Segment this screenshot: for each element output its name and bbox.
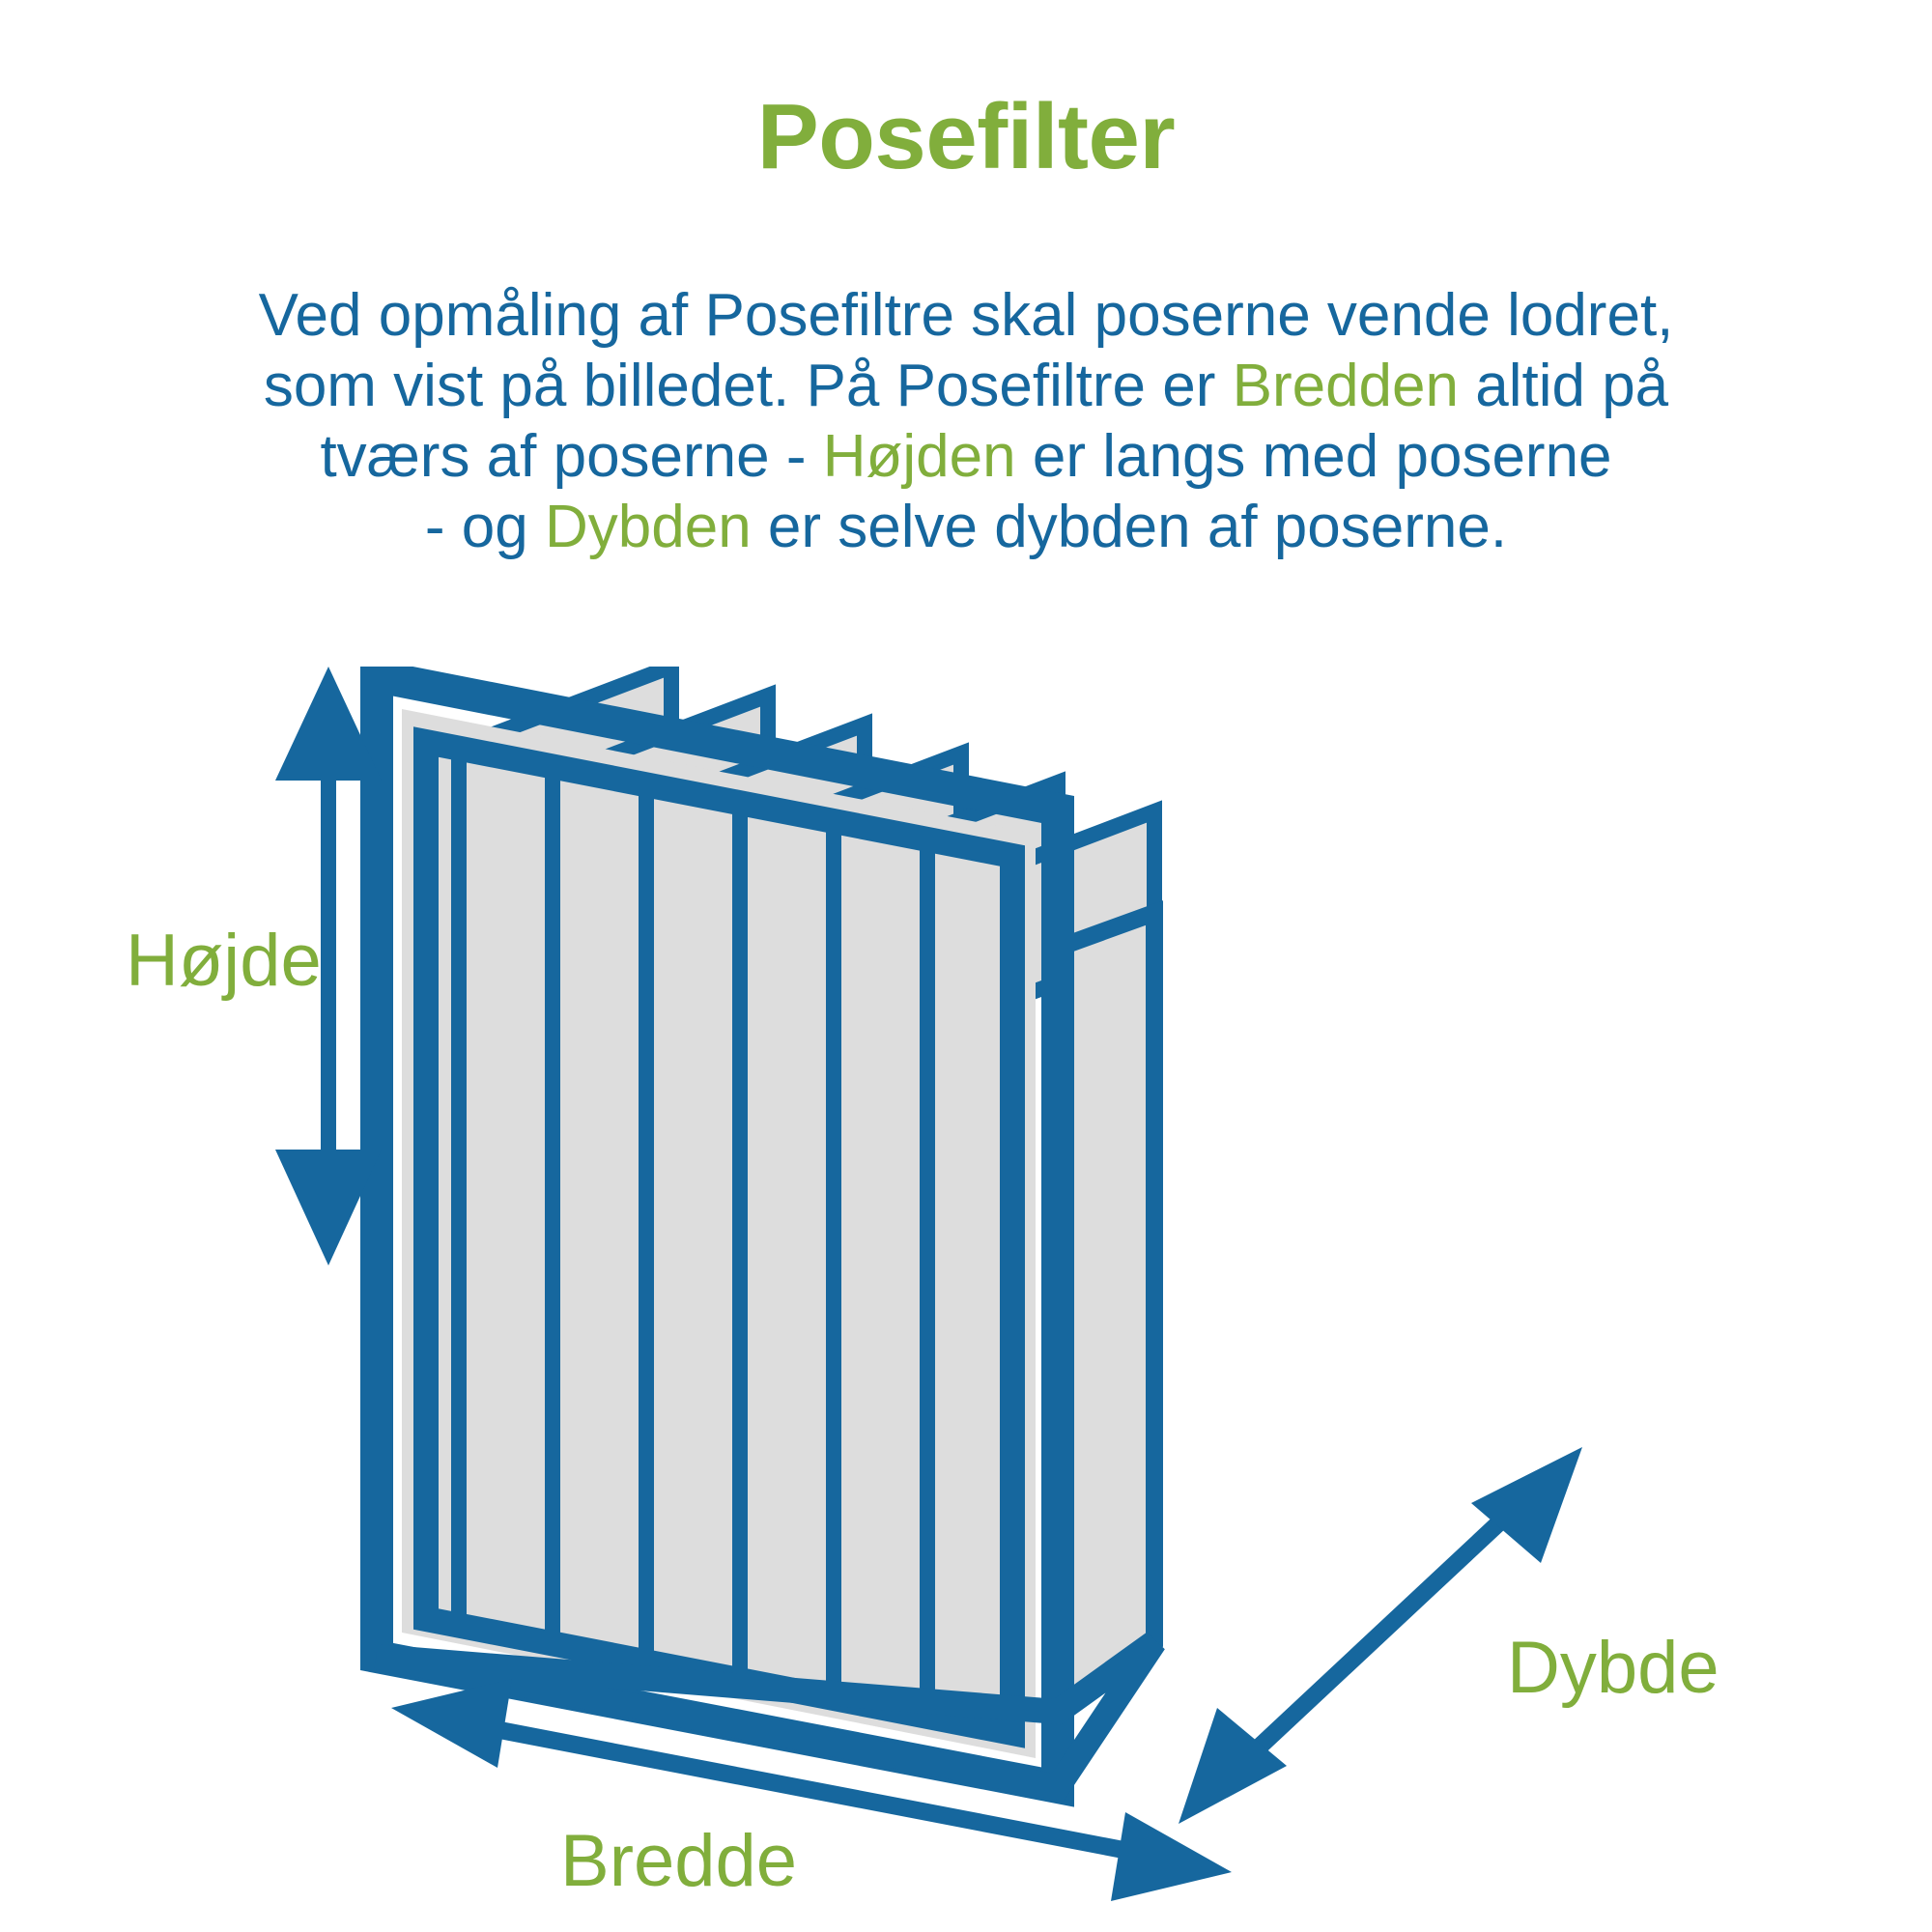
filter-diagram-svg: Højde Bredde Dybde (58, 667, 1893, 1913)
intro-paragraph: Ved opmåling af Posefiltre skal poserne … (77, 280, 1855, 563)
filter-diagram: Højde Bredde Dybde (58, 667, 1893, 1913)
width-label: Bredde (560, 1820, 797, 1902)
depth-label: Dybde (1507, 1627, 1719, 1709)
intro-line-2: som vist på billedet. På Posefiltre er B… (77, 351, 1855, 421)
intro-line-1: Ved opmåling af Posefiltre skal poserne … (77, 280, 1855, 351)
intro-highlight-hojden: Højden (823, 423, 1016, 490)
poster-root: Posefilter Ved opmåling af Posefiltre sk… (0, 0, 1932, 1932)
intro-line-4: - og Dybden er selve dybden af poserne. (77, 492, 1855, 562)
width-arrow-head-right (1111, 1812, 1232, 1901)
intro-line-3-seg-3: er langs med poserne (1016, 423, 1612, 490)
intro-highlight-dybden: Dybden (545, 494, 752, 560)
width-arrow-head-left (391, 1679, 512, 1768)
depth-arrow-head-up (1471, 1447, 1582, 1563)
intro-line-2-seg-1: som vist på billedet. På Posefiltre er (264, 353, 1233, 419)
intro-highlight-bredden: Bredden (1233, 353, 1459, 419)
page-title: Posefilter (0, 89, 1932, 186)
intro-line-4-seg-1: - og (425, 494, 545, 560)
intro-line-1-seg-1: Ved opmåling af Posefiltre skal poserne … (259, 282, 1674, 349)
height-label: Højde (126, 920, 322, 1002)
intro-line-2-seg-3: altid på (1459, 353, 1668, 419)
intro-line-3-seg-1: tværs af poserne - (320, 423, 822, 490)
intro-line-3: tværs af poserne - Højden er langs med p… (77, 421, 1855, 492)
intro-line-4-seg-3: er selve dybden af poserne. (752, 494, 1507, 560)
